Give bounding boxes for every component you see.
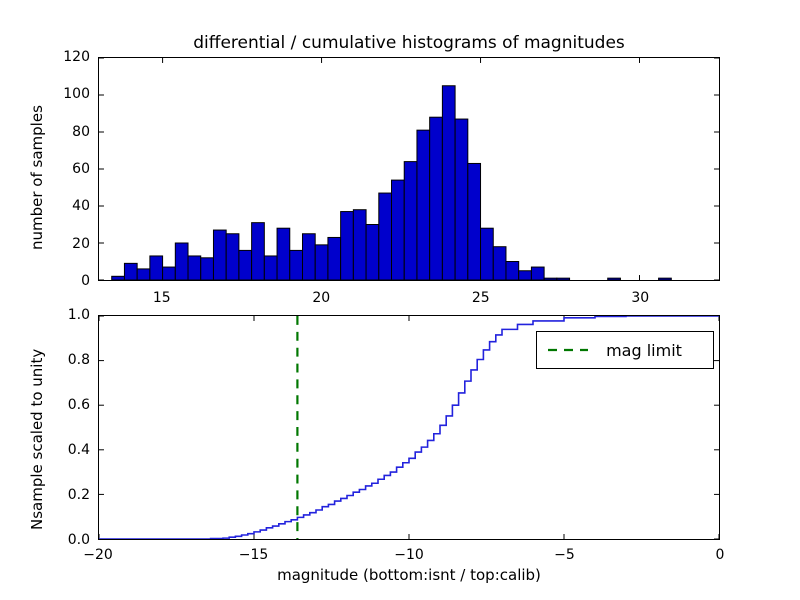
histogram-bar <box>226 234 239 280</box>
histogram-bar <box>175 243 188 280</box>
ytick-label: 120 <box>44 50 90 64</box>
xtick-label: 20 <box>296 291 346 305</box>
histogram-bar <box>163 267 176 280</box>
histogram-bar <box>608 278 621 280</box>
ytick-label: 1.0 <box>44 308 90 322</box>
histogram-bar <box>442 86 455 280</box>
histogram-bar <box>531 267 544 280</box>
bottom-panel-xlabel: magnitude (bottom:isnt / top:calib) <box>98 566 720 584</box>
xtick-label: 25 <box>456 291 506 305</box>
ytick-label: 40 <box>44 199 90 213</box>
histogram-bar <box>252 223 265 280</box>
xtick-label: −20 <box>73 548 123 562</box>
histogram-bar <box>315 245 328 280</box>
ytick-label: 0.6 <box>44 398 90 412</box>
ytick-label: 0.4 <box>44 443 90 457</box>
histogram-bar <box>290 250 303 280</box>
xtick-label: −15 <box>229 548 279 562</box>
histogram-bar <box>557 278 570 280</box>
differential-histogram-plot <box>99 58 719 280</box>
ytick-label: 20 <box>44 237 90 251</box>
histogram-bar <box>468 163 481 280</box>
histogram-bar <box>341 212 354 280</box>
xtick-label: −10 <box>384 548 434 562</box>
histogram-bar <box>302 234 315 280</box>
xtick-label: 30 <box>615 291 665 305</box>
histogram-bar <box>481 228 494 280</box>
histogram-bar <box>264 256 277 280</box>
figure-canvas: differential / cumulative histograms of … <box>0 0 800 600</box>
legend: mag limit <box>536 331 714 369</box>
histogram-bar <box>659 278 672 280</box>
histogram-bar <box>404 162 417 280</box>
histogram-bar <box>544 278 557 280</box>
histogram-bar <box>379 193 392 280</box>
histogram-bar <box>392 180 405 280</box>
histogram-bar <box>137 269 150 280</box>
mag-limit-line-icon <box>547 344 589 356</box>
xtick-label: 15 <box>137 291 187 305</box>
figure-title: differential / cumulative histograms of … <box>98 33 720 53</box>
bottom-panel-ylabel: Nsample scaled to unity <box>28 349 46 530</box>
histogram-bar <box>277 228 290 280</box>
histogram-bar <box>455 119 468 280</box>
histogram-bar <box>124 263 137 280</box>
histogram-bar <box>201 258 214 280</box>
histogram-bar <box>506 262 519 281</box>
histogram-bar <box>239 250 252 280</box>
histogram-bar <box>493 247 506 280</box>
histogram-bar <box>417 130 430 280</box>
histogram-bar <box>112 276 125 280</box>
histogram-bar <box>328 237 341 280</box>
ytick-label: 100 <box>44 87 90 101</box>
legend-label-mag-limit: mag limit <box>589 341 703 360</box>
histogram-bar <box>430 117 443 280</box>
xtick-label: −5 <box>540 548 590 562</box>
top-panel-axes <box>98 57 720 281</box>
ytick-label: 60 <box>44 162 90 176</box>
histogram-bar <box>213 230 226 280</box>
histogram-bar <box>353 210 366 280</box>
histogram-bar <box>519 271 532 280</box>
histogram-bar <box>366 225 379 281</box>
ytick-label: 0.2 <box>44 488 90 502</box>
ytick-label: 0.0 <box>44 533 90 547</box>
ytick-label: 80 <box>44 125 90 139</box>
histogram-bar <box>188 256 201 280</box>
ytick-label: 0.8 <box>44 353 90 367</box>
histogram-bar <box>150 256 163 280</box>
ytick-label: 0 <box>44 274 90 288</box>
xtick-label: 0 <box>695 548 745 562</box>
